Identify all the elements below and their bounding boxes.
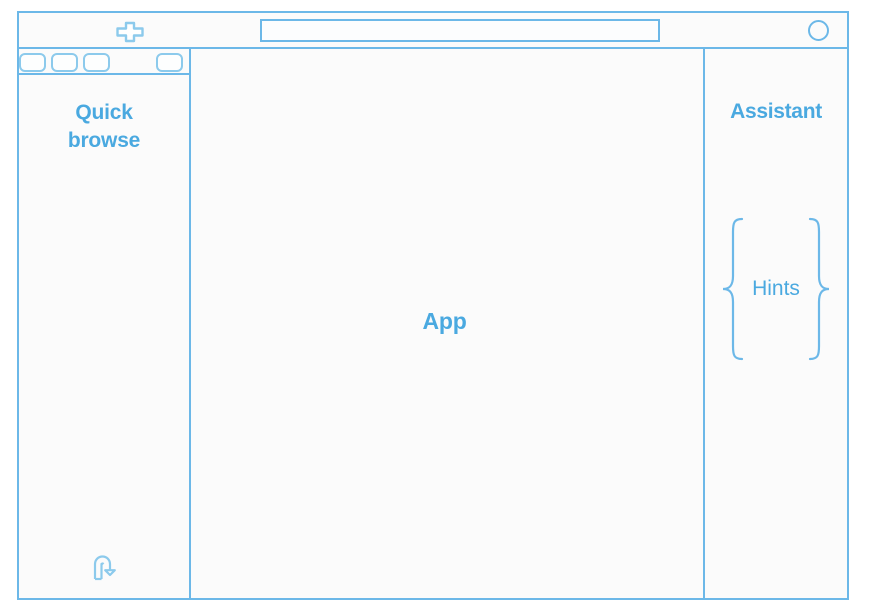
app-content-area: App — [191, 49, 698, 598]
plus-icon[interactable] — [115, 21, 145, 43]
assistant-title: Assistant — [705, 100, 847, 124]
left-curly-brace-icon — [720, 216, 746, 362]
tool-button-1[interactable] — [19, 53, 46, 72]
header-bar — [19, 13, 847, 49]
assistant-panel: Assistant Hints — [705, 49, 847, 598]
right-curly-brace-icon — [806, 216, 832, 362]
sidebar-body: Quickbrowse — [19, 75, 189, 598]
app-label: App — [191, 307, 698, 334]
tool-button-3[interactable] — [83, 53, 110, 72]
search-input[interactable] — [260, 19, 660, 42]
tool-button-4[interactable] — [156, 53, 183, 72]
tool-button-2[interactable] — [51, 53, 78, 72]
circle-avatar-icon[interactable] — [808, 20, 829, 41]
wireframe-window-frame: Quickbrowse App Assistant Hints — [17, 11, 849, 600]
hints-block: Hints — [705, 214, 847, 364]
hints-label: Hints — [746, 277, 806, 301]
u-turn-back-icon[interactable] — [91, 552, 125, 582]
sidebar: Quickbrowse — [19, 49, 189, 598]
sidebar-toolbar — [19, 49, 189, 75]
quick-browse-title: Quickbrowse — [19, 99, 189, 156]
